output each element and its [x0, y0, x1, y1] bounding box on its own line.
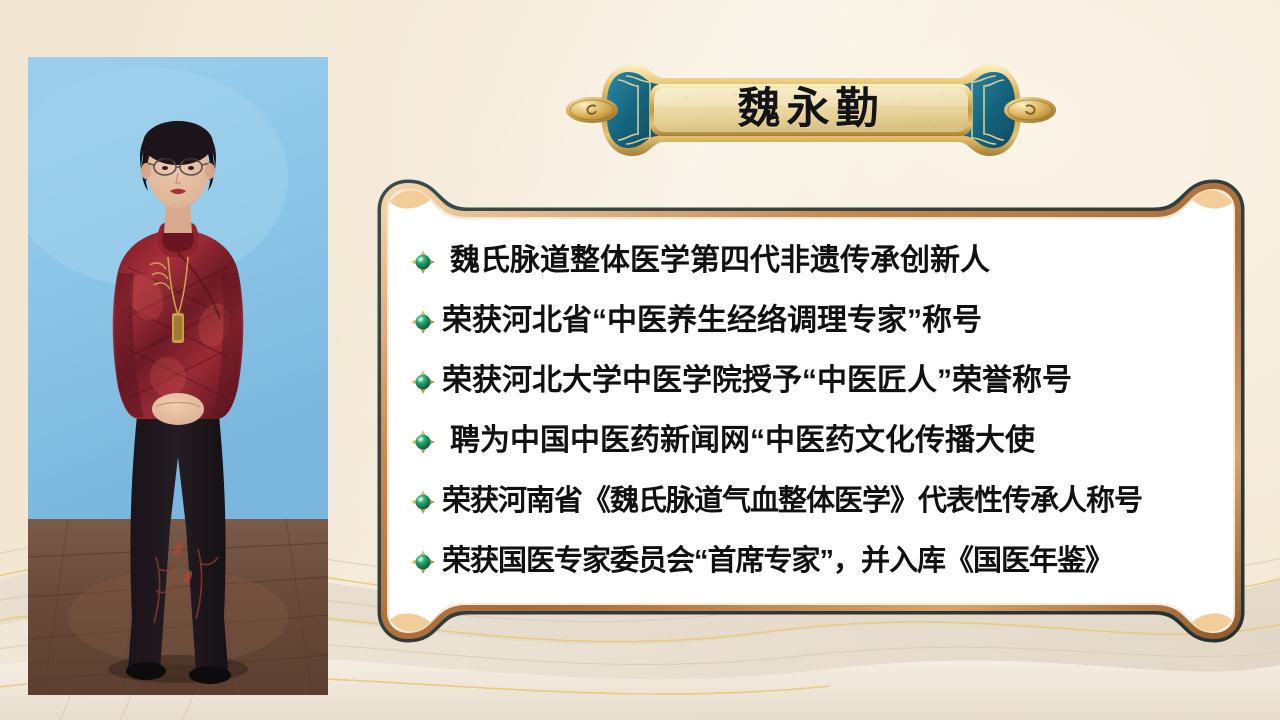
green-gem-bullet-icon — [410, 549, 436, 575]
green-gem-bullet-icon — [410, 489, 436, 515]
credential-item-2: 荣获河北省“中医养生经络调理专家”称号 — [410, 291, 1216, 351]
page-title: 魏永勤 — [566, 56, 1056, 164]
green-gem-bullet-icon — [410, 309, 436, 335]
green-gem-bullet-icon — [410, 429, 436, 455]
portrait-photo — [28, 57, 328, 695]
credential-text: 荣获河北省“中医养生经络调理专家”称号 — [442, 305, 982, 337]
credential-text: 荣获河南省《魏氏脉道气血整体医学》代表性传承人称号 — [442, 486, 1142, 516]
credentials-card: 魏氏脉道整体医学第四代非遗传承创新人 荣获河北省“中医养生经络调理专家”称号 — [374, 176, 1248, 646]
title-plaque: 魏永勤 — [566, 56, 1056, 164]
credential-item-5: 荣获河南省《魏氏脉道气血整体医学》代表性传承人称号 — [410, 471, 1216, 531]
credential-text: 荣获河北大学中医学院授予“中医匠人”荣誉称号 — [442, 365, 1072, 397]
credential-text: 聘为中国中医药新闻网“中医药文化传播大使 — [450, 425, 1035, 457]
credential-item-4: 聘为中国中医药新闻网“中医药文化传播大使 — [410, 411, 1216, 471]
credential-text: 荣获国医专家委员会“首席专家”，并入库《国医年鉴》 — [442, 546, 1113, 576]
credential-item-1: 魏氏脉道整体医学第四代非遗传承创新人 — [410, 231, 1216, 291]
green-gem-bullet-icon — [410, 249, 436, 275]
green-gem-bullet-icon — [410, 369, 436, 395]
credential-text: 魏氏脉道整体医学第四代非遗传承创新人 — [450, 245, 990, 277]
credential-item-6: 荣获国医专家委员会“首席专家”，并入库《国医年鉴》 — [410, 531, 1216, 591]
credential-item-3: 荣获河北大学中医学院授予“中医匠人”荣誉称号 — [410, 351, 1216, 411]
slide-root: 魏永勤 — [0, 0, 1280, 720]
credentials-list: 魏氏脉道整体医学第四代非遗传承创新人 荣获河北省“中医养生经络调理专家”称号 — [396, 202, 1226, 620]
